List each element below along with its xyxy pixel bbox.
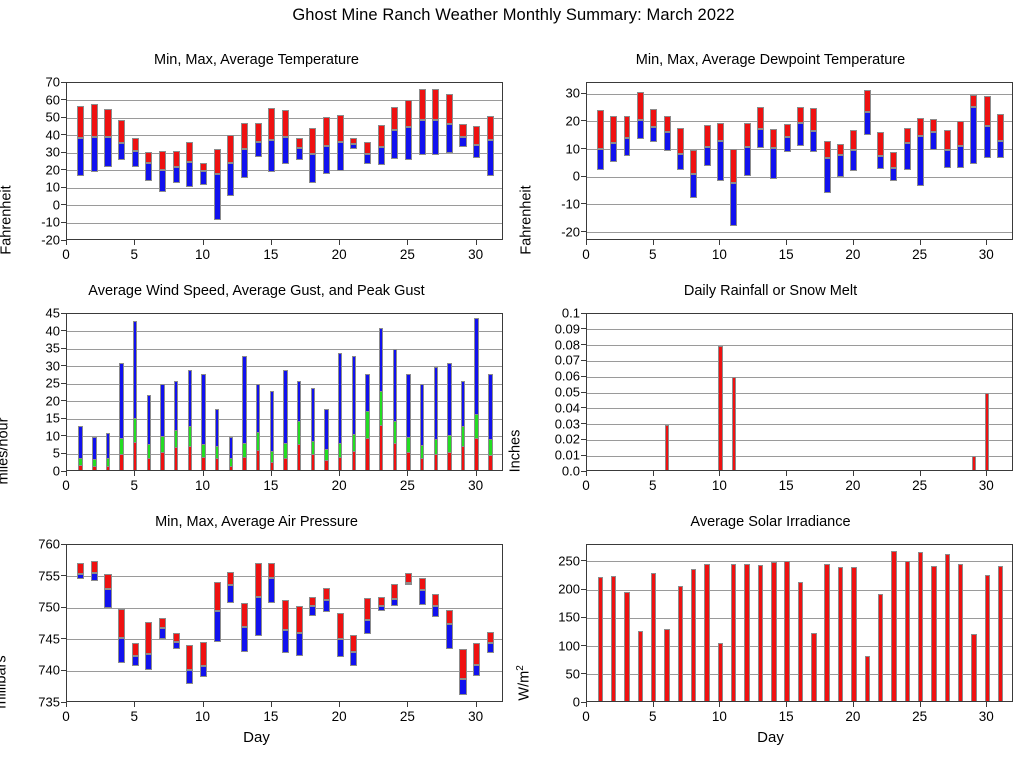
bar-min-to-avg (255, 142, 262, 157)
bar-avg-to-max (214, 582, 221, 611)
bar-min-to-avg (323, 146, 330, 174)
x-tick-mark (476, 240, 477, 245)
bar-solar_irradiance (664, 629, 669, 702)
x-tick-mark (66, 471, 67, 476)
y-tick-mark (581, 360, 587, 361)
panel-title-wind: Average Wind Speed, Average Gust, and Pe… (0, 283, 513, 299)
bar-avg-to-max (337, 115, 344, 142)
bar-avg-to-max (391, 584, 398, 599)
x-tick-label: 0 (62, 247, 70, 262)
bar-avg-to-max (624, 116, 631, 138)
bar-avg-to-max (186, 142, 193, 162)
bar-min-to-avg (730, 183, 737, 226)
bar-avg-to-max (446, 94, 453, 124)
y-tick-label: 0 (573, 695, 580, 710)
bar-solar_irradiance (918, 552, 923, 702)
y-tick-label: 150 (558, 610, 580, 625)
bar-min-to-avg (459, 679, 466, 695)
x-tick-label: 25 (912, 478, 927, 493)
x-tick-mark (271, 702, 272, 707)
bar-avg-wind-speed (201, 457, 205, 471)
x-tick-label: 10 (195, 709, 210, 724)
y-tick-mark (61, 348, 67, 349)
y-tick-label: 735 (38, 695, 60, 710)
gridline (67, 671, 502, 672)
y-tick-mark (61, 187, 67, 188)
bar-solar_irradiance (865, 656, 870, 702)
x-tick-label: 15 (779, 478, 794, 493)
bar-min-to-avg (597, 149, 604, 171)
bar-avg-to-max (309, 597, 316, 606)
bar-avg-to-max (309, 128, 316, 154)
bar-min-to-avg (378, 147, 385, 165)
bar-min-to-avg (487, 140, 494, 176)
x-tick-label: 0 (582, 247, 590, 262)
bar-min-to-avg (391, 130, 398, 159)
y-tick-mark (581, 645, 587, 646)
y-tick-label: 30 (566, 86, 580, 101)
bar-avg-to-max (255, 123, 262, 142)
bar-avg-wind-speed (420, 458, 424, 471)
bar-min-to-avg (200, 666, 207, 677)
plot-area-solar (586, 544, 1013, 702)
y-tick-mark (581, 376, 587, 377)
x-tick-mark (853, 471, 854, 476)
bar-min-to-avg (784, 137, 791, 152)
bar-avg-to-max (637, 92, 644, 120)
y-tick-label: -10 (41, 215, 60, 230)
gridline (67, 223, 502, 224)
x-tick-mark (986, 471, 987, 476)
bar-solar_irradiance (838, 567, 843, 702)
bar-min-to-avg (690, 174, 697, 198)
y-tick-label: 20 (566, 113, 580, 128)
y-tick-mark (61, 330, 67, 331)
bar-avg-to-max (227, 572, 234, 585)
bar-min-to-avg (296, 633, 303, 655)
bar-solar_irradiance (598, 577, 603, 702)
x-tick-label: 25 (400, 709, 415, 724)
y-tick-label: 250 (558, 553, 580, 568)
bar-avg-wind-speed (160, 452, 164, 471)
bar-avg-to-max (930, 119, 937, 132)
bar-min-to-avg (664, 132, 671, 151)
bar-avg-to-max (405, 100, 412, 127)
bar-solar_irradiance (851, 567, 856, 702)
bar-avg-to-max (91, 561, 98, 573)
bar-min-to-avg (173, 642, 180, 649)
bar-min-to-avg (104, 589, 111, 608)
y-tick-mark (61, 99, 67, 100)
x-tick-label: 30 (979, 247, 994, 262)
bar-avg-to-max (824, 141, 831, 158)
x-tick-mark (853, 702, 854, 707)
bar-min-to-avg (487, 643, 494, 653)
bar-min-to-avg (473, 145, 480, 158)
bar-avg-to-max (323, 588, 330, 600)
bar-solar_irradiance (971, 634, 976, 702)
x-tick-label: 15 (263, 478, 278, 493)
y-tick-label: 30 (46, 145, 60, 160)
gridline (587, 94, 1012, 95)
bar-avg-to-max (717, 123, 724, 141)
y-tick-label: 10 (46, 180, 60, 195)
bar-min-to-avg (419, 590, 426, 605)
gridline (67, 188, 502, 189)
y-tick-label: 0 (573, 169, 580, 184)
bar-avg-to-max (917, 118, 924, 135)
y-tick-mark (581, 344, 587, 345)
y-tick-label: 200 (558, 582, 580, 597)
bar-avg-wind-speed (256, 450, 260, 471)
bar-solar_irradiance (824, 564, 829, 702)
gridline (67, 205, 502, 206)
bar-solar_irradiance (958, 564, 963, 702)
x-tick-label: 15 (779, 709, 794, 724)
x-tick-label: 20 (332, 478, 347, 493)
bar-min-to-avg (917, 136, 924, 186)
x-tick-mark (786, 471, 787, 476)
bar-avg-to-max (690, 150, 697, 174)
bar-solar_irradiance (891, 551, 896, 702)
y-tick-label: 45 (46, 306, 60, 321)
y-tick-label: 0.09 (555, 321, 580, 336)
gridline (587, 345, 1012, 346)
bar-avg-to-max (77, 563, 84, 574)
bar-min-to-avg (810, 131, 817, 152)
gridline (67, 170, 502, 171)
bar-avg-to-max (296, 138, 303, 148)
bar-min-to-avg (309, 154, 316, 183)
bar-solar_irradiance (905, 561, 910, 702)
bar-min-to-avg (77, 138, 84, 175)
x-tick-label: 5 (649, 709, 657, 724)
panel-solar: Average Solar Irradiance W/m2 0501001502… (514, 514, 1027, 772)
bar-min-to-avg (677, 154, 684, 170)
y-tick-label: 10 (46, 428, 60, 443)
x-tick-label: 30 (468, 709, 483, 724)
bar-avg-to-max (145, 152, 152, 164)
bar-avg-to-max (186, 645, 193, 670)
bar-avg-to-max (132, 138, 139, 151)
bar-avg-to-max (597, 110, 604, 149)
plot-area-wind (66, 313, 503, 471)
bar-min-to-avg (186, 162, 193, 187)
bar-solar_irradiance (691, 569, 696, 702)
bar-min-to-avg (296, 148, 303, 160)
x-tick-mark (203, 702, 204, 707)
bar-min-to-avg (350, 144, 357, 149)
x-axis-label-solar: Day (514, 729, 1027, 746)
bar-avg-to-max (970, 95, 977, 107)
bar-avg-to-max (650, 109, 657, 127)
bar-min-to-avg (770, 148, 777, 179)
panel-wind: Average Wind Speed, Average Gust, and Pe… (0, 283, 513, 516)
x-tick-label: 15 (779, 247, 794, 262)
bar-avg-to-max (268, 563, 275, 579)
plot-area-pressure (66, 544, 503, 702)
bar-avg-to-max (677, 128, 684, 153)
bar-avg-to-max (145, 622, 152, 654)
bar-min-to-avg (337, 142, 344, 171)
bar-min-to-avg (930, 132, 937, 150)
x-tick-label: 10 (712, 709, 727, 724)
y-tick-mark (61, 222, 67, 223)
bar-solar_irradiance (758, 565, 763, 702)
bar-avg-wind-speed (133, 442, 137, 471)
x-tick-label: 10 (195, 478, 210, 493)
bar-min-to-avg (214, 174, 221, 220)
x-tick-label: 25 (400, 247, 415, 262)
bar-min-to-avg (132, 656, 139, 667)
y-tick-mark (581, 455, 587, 456)
x-tick-label: 30 (979, 478, 994, 493)
bar-rainfall (985, 393, 989, 471)
y-tick-mark (61, 313, 67, 314)
x-tick-mark (653, 702, 654, 707)
y-tick-label: 5 (53, 446, 60, 461)
bar-avg-to-max (268, 108, 275, 140)
bar-min-to-avg (282, 630, 289, 653)
y-tick-label: 0.07 (555, 353, 580, 368)
bar-min-to-avg (650, 127, 657, 141)
bar-min-to-avg (268, 140, 275, 172)
bar-min-to-avg (77, 574, 84, 579)
x-tick-mark (920, 240, 921, 245)
bar-solar_irradiance (704, 564, 709, 702)
y-tick-label: 70 (46, 75, 60, 90)
x-axis-label-pressure: Day (0, 729, 513, 746)
bar-avg-wind-speed (447, 452, 451, 471)
bar-min-to-avg (132, 151, 139, 166)
bar-solar_irradiance (985, 575, 990, 702)
bar-solar_irradiance (878, 594, 883, 702)
y-tick-label: 0.08 (555, 337, 580, 352)
x-tick-mark (853, 240, 854, 245)
bar-min-to-avg (255, 597, 262, 636)
bar-avg-wind-speed (324, 460, 328, 471)
gridline (587, 424, 1012, 425)
bar-min-to-avg (186, 670, 193, 684)
y-tick-mark (581, 392, 587, 393)
bar-avg-wind-speed (365, 438, 369, 471)
y-tick-mark (61, 169, 67, 170)
bar-avg-to-max (770, 129, 777, 148)
y-axis-label-solar: W/m2 (515, 665, 533, 700)
bar-avg-wind-speed (488, 455, 492, 471)
panel-temperature: Min, Max, Average Temperature Fahrenheit… (0, 52, 513, 285)
page-title: Ghost Mine Ranch Weather Monthly Summary… (0, 6, 1027, 25)
bar-avg-to-max (282, 110, 289, 137)
bar-min-to-avg (837, 155, 844, 177)
bar-avg-wind-speed (297, 444, 301, 471)
bar-avg-to-max (904, 128, 911, 143)
x-tick-label: 25 (400, 478, 415, 493)
bar-avg-to-max (350, 138, 357, 144)
bar-min-to-avg (432, 606, 439, 617)
x-tick-label: 25 (912, 247, 927, 262)
bar-avg-to-max (459, 649, 466, 679)
bar-avg-wind-speed (270, 462, 274, 471)
bar-min-to-avg (904, 143, 911, 170)
y-tick-label: 15 (46, 411, 60, 426)
y-tick-mark (61, 575, 67, 576)
bar-avg-to-max (350, 635, 357, 653)
bar-avg-wind-speed (106, 466, 110, 471)
x-tick-mark (719, 240, 720, 245)
x-tick-mark (407, 471, 408, 476)
y-tick-mark (61, 435, 67, 436)
x-tick-mark (719, 471, 720, 476)
bar-min-to-avg (282, 137, 289, 164)
bar-min-to-avg (446, 124, 453, 152)
x-tick-label: 30 (979, 709, 994, 724)
bar-avg-to-max (173, 633, 180, 642)
y-tick-label: 40 (46, 127, 60, 142)
x-tick-mark (134, 702, 135, 707)
bar-avg-to-max (391, 107, 398, 130)
bar-solar_irradiance (771, 562, 776, 702)
y-tick-label: 100 (558, 638, 580, 653)
bar-avg-to-max (255, 563, 262, 596)
y-tick-label: 0.03 (555, 416, 580, 431)
y-tick-label: 35 (46, 341, 60, 356)
y-tick-mark (581, 439, 587, 440)
bar-avg-to-max (378, 597, 385, 605)
bar-min-to-avg (173, 167, 180, 183)
y-tick-label: 60 (46, 92, 60, 107)
plot-area-temperature (66, 82, 503, 240)
panel-rainfall: Daily Rainfall or Snow Melt Inches 0.00.… (514, 283, 1027, 516)
y-tick-label: 0.0 (562, 464, 580, 479)
x-tick-mark (476, 702, 477, 707)
y-tick-mark (581, 328, 587, 329)
gridline (587, 456, 1012, 457)
bar-avg-to-max (487, 116, 494, 140)
x-tick-label: 0 (582, 709, 590, 724)
bar-min-to-avg (200, 171, 207, 185)
bar-avg-wind-speed (434, 454, 438, 471)
y-tick-mark (61, 670, 67, 671)
y-tick-label: 40 (46, 323, 60, 338)
bar-avg-wind-speed (311, 454, 315, 471)
x-tick-mark (407, 240, 408, 245)
y-tick-label: 0.01 (555, 448, 580, 463)
y-tick-mark (581, 231, 587, 232)
bar-min-to-avg (997, 141, 1004, 157)
bar-solar_irradiance (678, 586, 683, 702)
x-tick-label: 30 (468, 478, 483, 493)
y-tick-label: 25 (46, 376, 60, 391)
bar-min-to-avg (241, 627, 248, 652)
x-tick-mark (586, 702, 587, 707)
bar-avg-to-max (419, 578, 426, 590)
x-tick-mark (203, 471, 204, 476)
bar-avg-wind-speed (406, 452, 410, 471)
bar-min-to-avg (364, 620, 371, 635)
bar-avg-wind-speed (352, 451, 356, 471)
bar-avg-wind-speed (393, 443, 397, 471)
bar-avg-to-max (890, 152, 897, 168)
y-tick-mark (61, 152, 67, 153)
bar-min-to-avg (241, 149, 248, 177)
bar-min-to-avg (159, 628, 166, 639)
y-axis-label-temperature: Fahrenheit (0, 185, 15, 254)
bar-rainfall (972, 456, 976, 471)
y-tick-label: 750 (38, 600, 60, 615)
x-tick-mark (786, 702, 787, 707)
bar-solar_irradiance (718, 643, 723, 702)
bar-avg-to-max (282, 600, 289, 630)
bar-min-to-avg (824, 158, 831, 192)
bar-solar_irradiance (731, 564, 736, 702)
bar-min-to-avg (405, 127, 412, 160)
bar-min-to-avg (757, 129, 764, 148)
bar-min-to-avg (337, 639, 344, 657)
bar-avg-to-max (173, 151, 180, 167)
bar-min-to-avg (944, 150, 951, 168)
x-tick-label: 5 (131, 478, 139, 493)
bar-rainfall (732, 377, 736, 471)
y-tick-label: 755 (38, 568, 60, 583)
bar-min-to-avg (744, 147, 751, 176)
bar-min-to-avg (717, 141, 724, 181)
y-tick-mark (61, 117, 67, 118)
x-tick-mark (920, 471, 921, 476)
bar-avg-to-max (214, 149, 221, 175)
bar-min-to-avg (405, 583, 412, 585)
y-tick-label: 50 (46, 110, 60, 125)
gridline (587, 393, 1012, 394)
x-tick-mark (66, 240, 67, 245)
x-tick-mark (134, 471, 135, 476)
x-tick-mark (339, 471, 340, 476)
y-tick-label: -10 (561, 196, 580, 211)
y-axis-label-dewpoint: Fahrenheit (519, 185, 535, 254)
bar-avg-to-max (744, 123, 751, 148)
bar-avg-to-max (200, 163, 207, 171)
plot-area-dewpoint (586, 82, 1013, 240)
x-tick-mark (339, 702, 340, 707)
bar-avg-to-max (784, 124, 791, 138)
bar-solar_irradiance (611, 576, 616, 702)
y-tick-mark (581, 203, 587, 204)
bar-avg-wind-speed (474, 438, 478, 471)
y-tick-mark (61, 400, 67, 401)
bar-avg-to-max (446, 610, 453, 624)
bar-min-to-avg (391, 599, 398, 607)
bar-avg-to-max (984, 96, 991, 126)
bar-avg-to-max (132, 643, 139, 656)
bar-avg-to-max (159, 151, 166, 169)
x-tick-mark (786, 240, 787, 245)
bar-min-to-avg (473, 665, 480, 676)
bar-min-to-avg (309, 606, 316, 615)
bar-avg-to-max (364, 142, 371, 154)
y-axis-label-rainfall: Inches (507, 430, 523, 473)
bar-min-to-avg (610, 143, 617, 162)
y-tick-mark (581, 313, 587, 314)
bar-min-to-avg (91, 137, 98, 172)
bar-avg-wind-speed (174, 447, 178, 471)
x-tick-mark (653, 240, 654, 245)
y-tick-mark (61, 134, 67, 135)
bar-avg-to-max (877, 132, 884, 157)
bar-avg-to-max (104, 574, 111, 589)
x-tick-mark (586, 240, 587, 245)
bar-avg-to-max (487, 632, 494, 643)
y-tick-mark (581, 120, 587, 121)
